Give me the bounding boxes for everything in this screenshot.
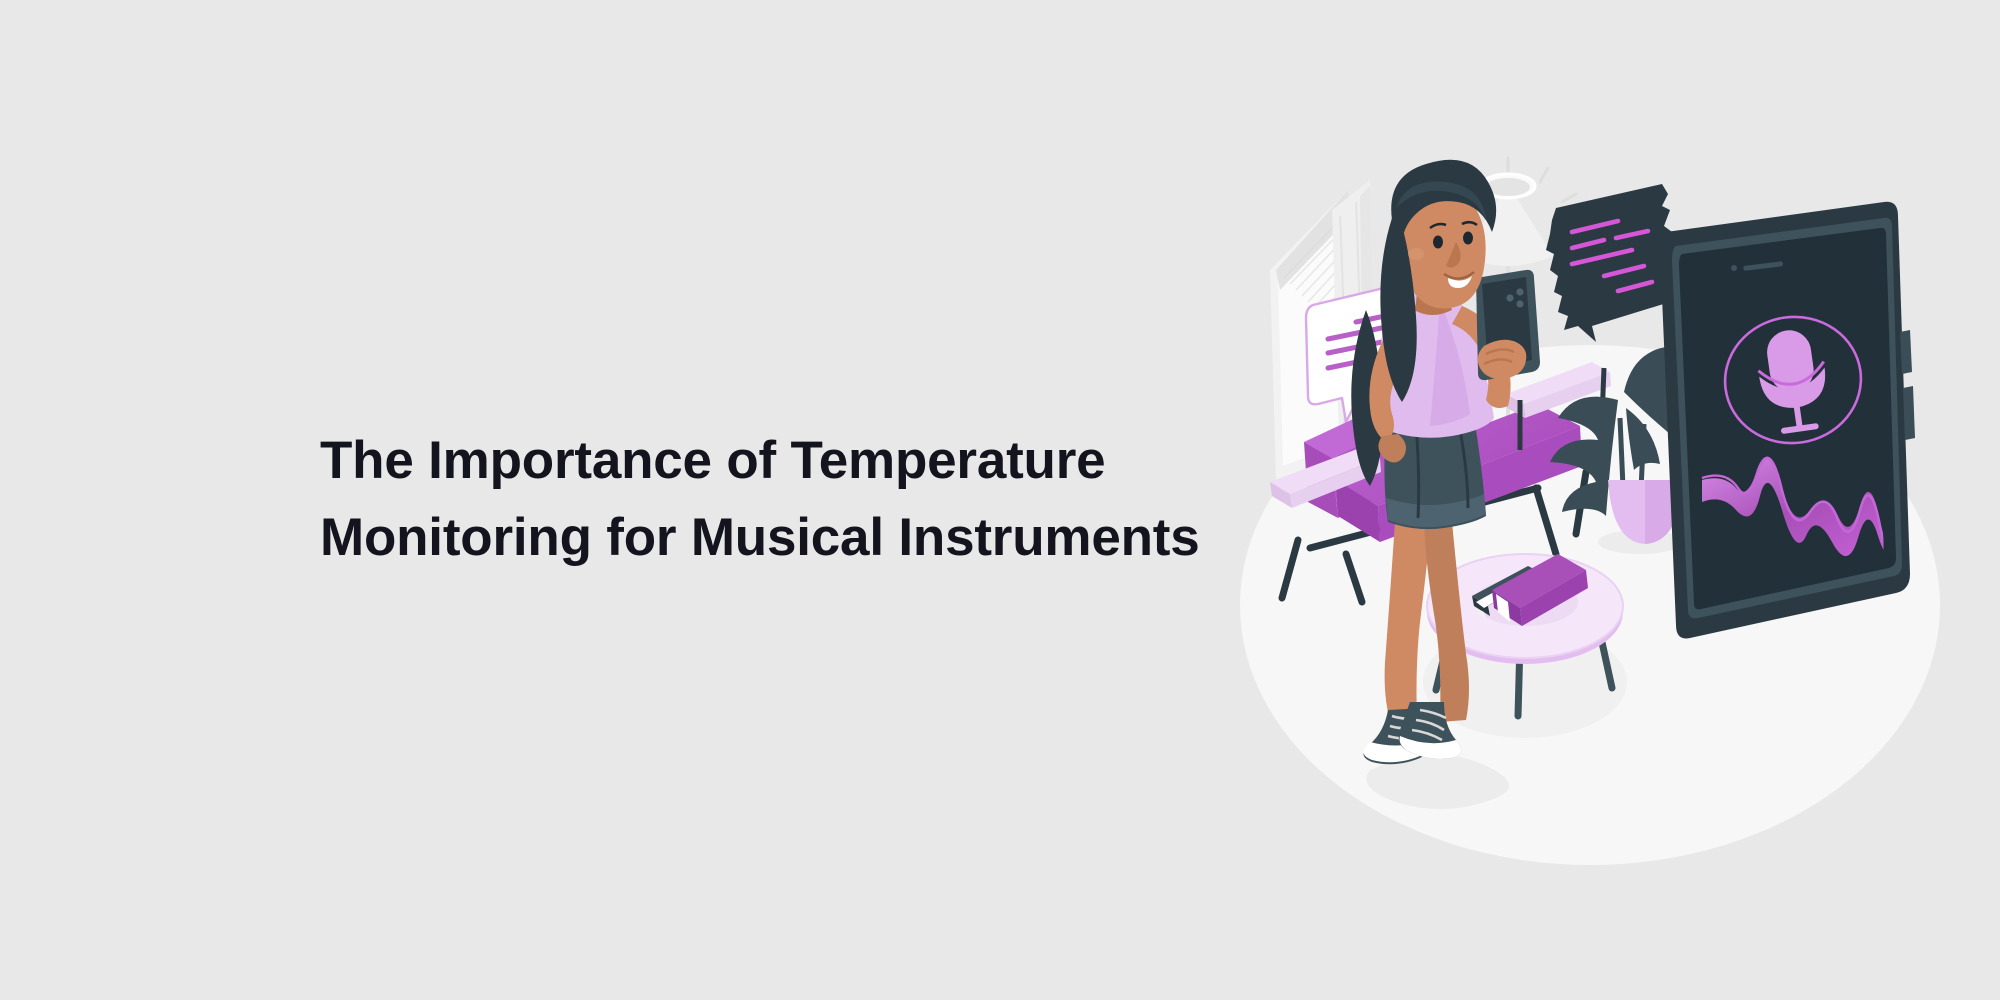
hero-banner: The Importance of Temperature Monitoring…	[0, 0, 2000, 1000]
page-title: The Importance of Temperature Monitoring…	[320, 423, 1220, 577]
speech-bubble-dark	[1546, 184, 1676, 342]
tablet-device[interactable]	[1660, 202, 1915, 639]
headline-block: The Importance of Temperature Monitoring…	[320, 0, 1220, 1000]
voice-assistant-illustration	[1220, 150, 1960, 890]
